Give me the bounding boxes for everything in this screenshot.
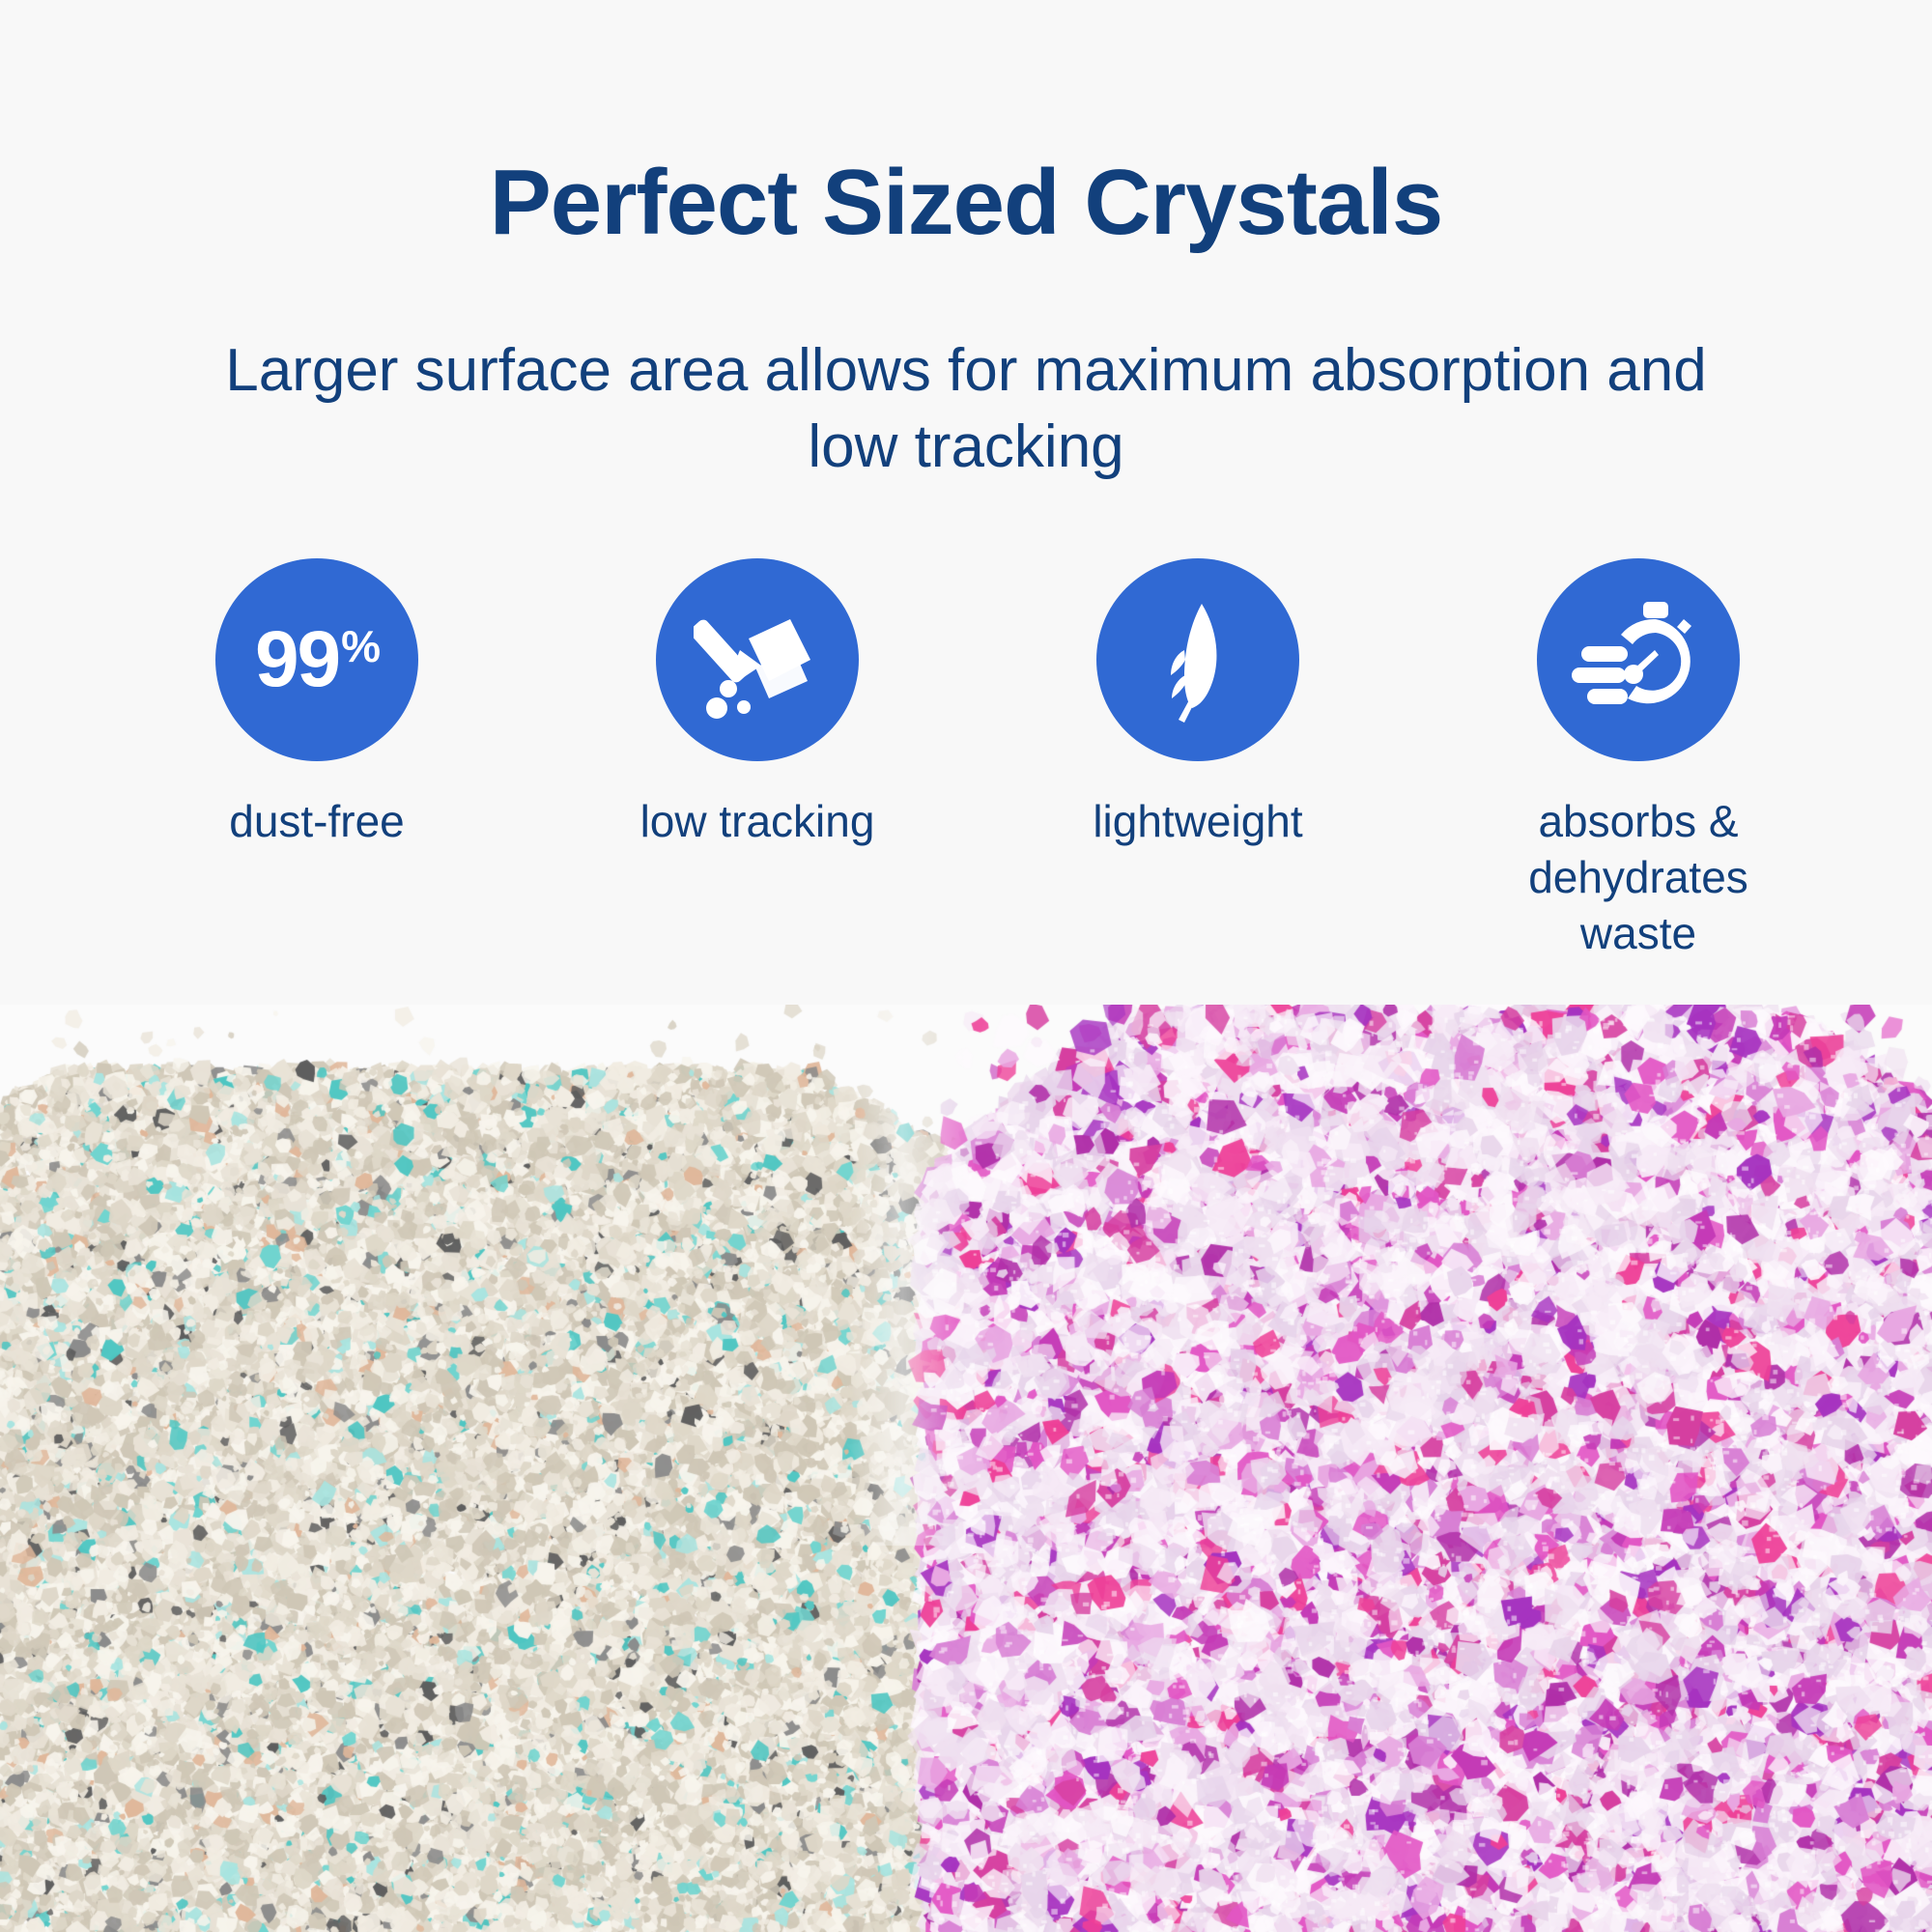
feature-low-tracking: low tracking: [616, 558, 898, 850]
fast-stopwatch-icon: [1537, 558, 1740, 761]
feature-dust-free: 99% dust-free: [176, 558, 458, 850]
page-title: Perfect Sized Crystals: [0, 155, 1932, 252]
feature-lightweight: lightweight: [1057, 558, 1339, 850]
broom-sweep-icon: [656, 558, 859, 761]
feature-label-dust-free: dust-free: [229, 794, 405, 850]
feature-label-lightweight: lightweight: [1093, 794, 1302, 850]
feature-absorbs-dehydrates: absorbs & dehydrates waste: [1497, 558, 1779, 962]
percent-number: 99: [255, 620, 339, 699]
percent-symbol: %: [341, 624, 379, 668]
infographic-page: Perfect Sized Crystals Larger surface ar…: [0, 0, 1932, 1932]
page-subtitle: Larger surface area allows for maximum a…: [222, 332, 1710, 486]
percent-99-icon: 99%: [215, 558, 418, 761]
feature-label-low-tracking: low tracking: [640, 794, 875, 850]
product-comparison-photo: [0, 1005, 1932, 1932]
feather-icon: [1096, 558, 1299, 761]
percent-value-group: 99%: [255, 620, 379, 699]
litter-granules-canvas: [0, 1005, 1932, 1932]
feature-badge-row: 99% dust-free: [176, 558, 1779, 962]
feature-label-absorbs-dehydrates: absorbs & dehydrates waste: [1497, 794, 1779, 962]
